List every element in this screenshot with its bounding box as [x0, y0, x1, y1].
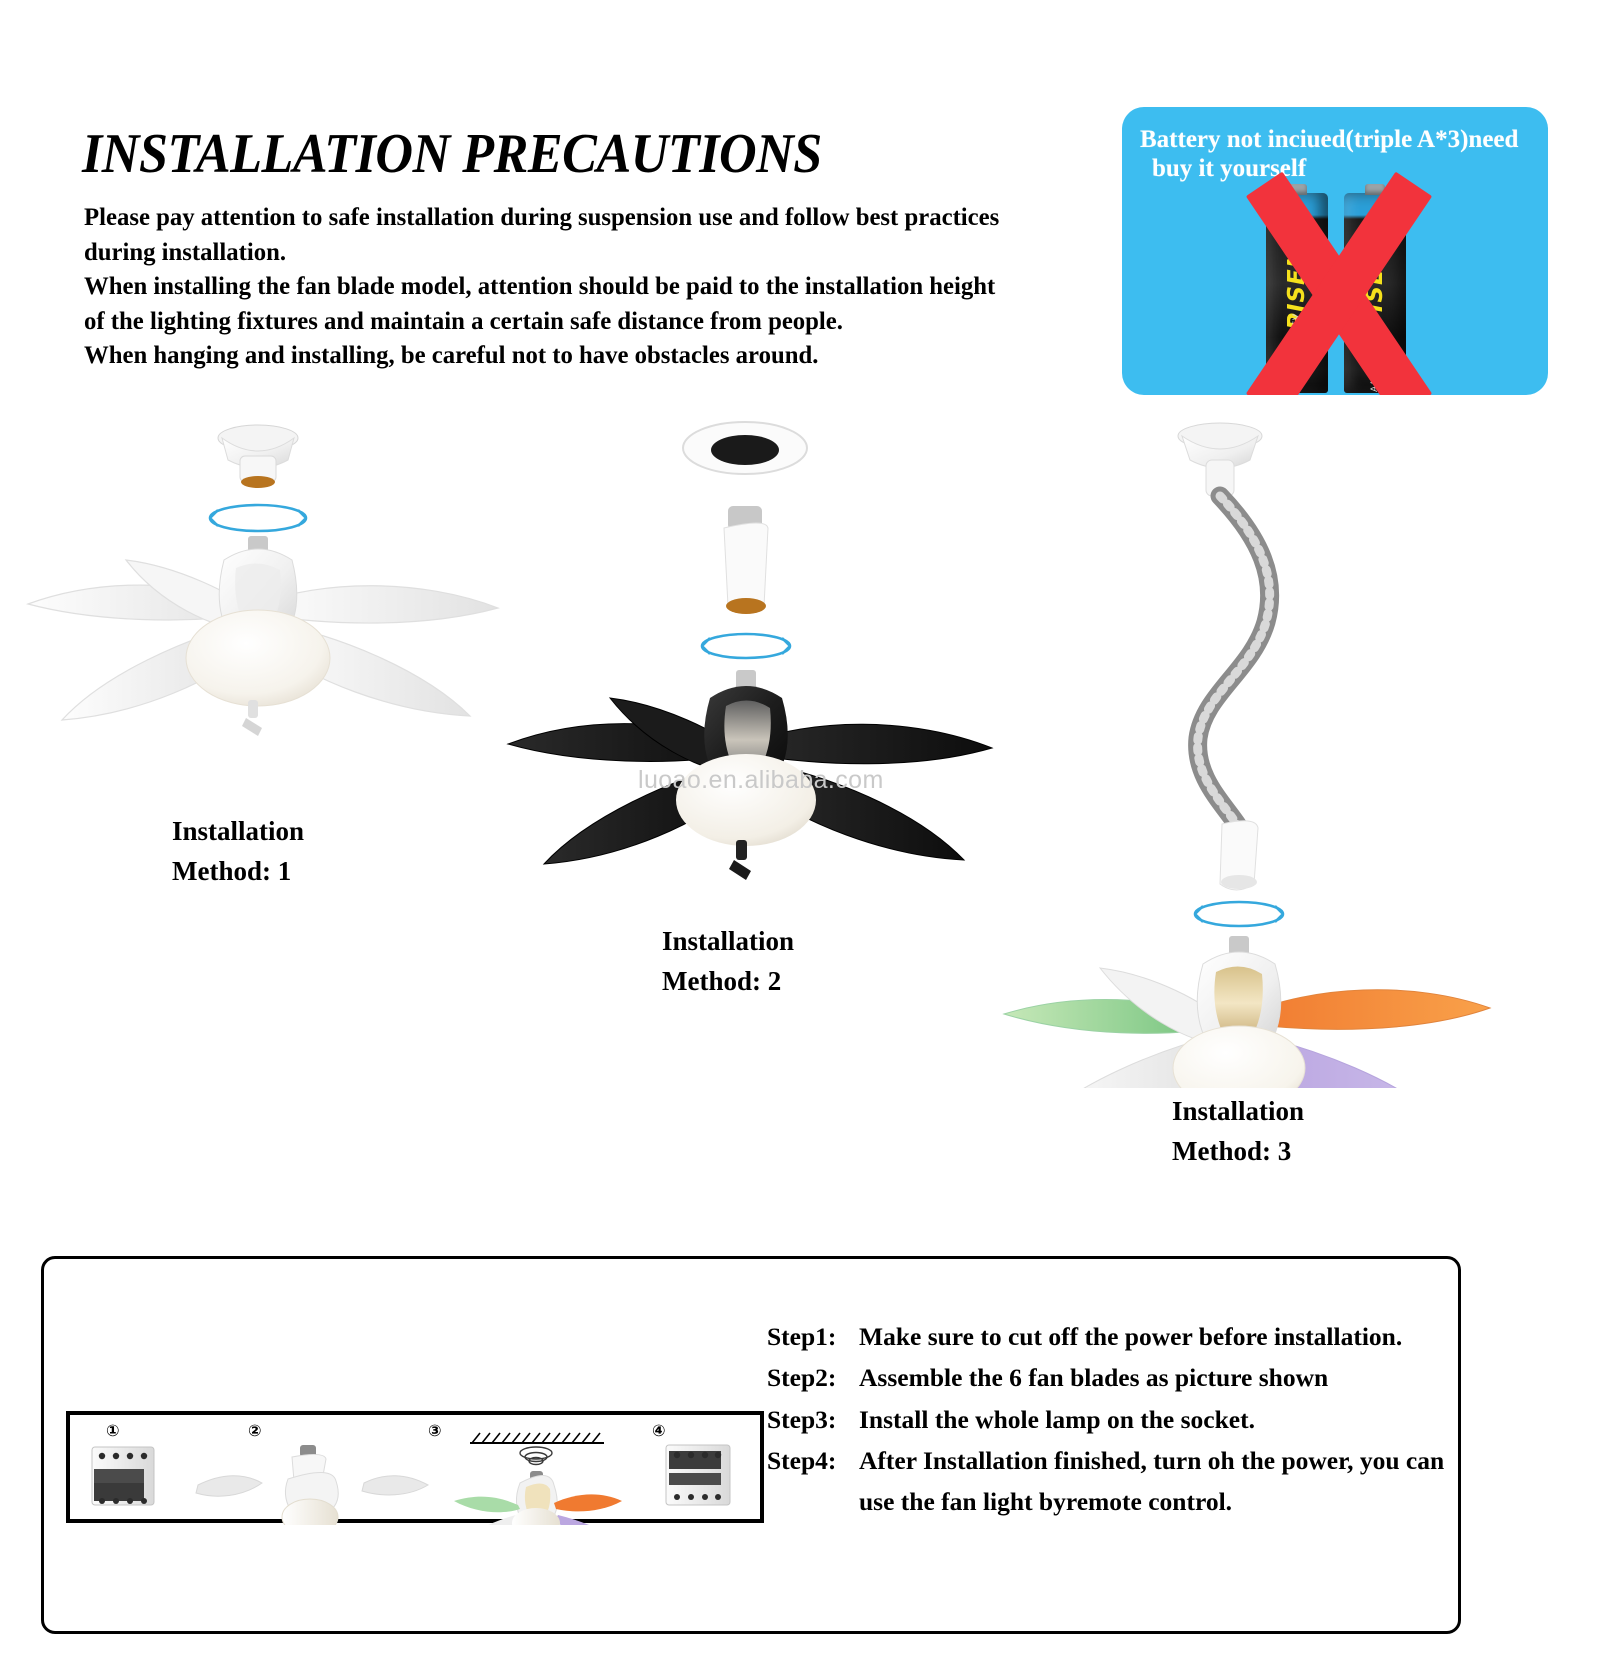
- infographic-page: INSTALLATION PRECAUTIONS Please pay atte…: [0, 0, 1600, 1677]
- step-row: Step1: Make sure to cut off the power be…: [767, 1316, 1447, 1357]
- step-2-key: Step2:: [767, 1357, 859, 1398]
- step-4-value-continued: use the fan light byremote control.: [859, 1481, 1447, 1522]
- step-1-value: Make sure to cut off the power before in…: [859, 1316, 1402, 1357]
- intro-paragraphs: Please pay attention to safe installatio…: [84, 200, 1006, 373]
- method-2-line-2: Method: 2: [662, 962, 794, 1002]
- intro-line-3: When hanging and installing, be careful …: [84, 338, 1006, 373]
- method-1-line-1: Installation: [172, 812, 304, 852]
- method-3-line-2: Method: 3: [1172, 1132, 1304, 1172]
- installation-method-2-illustration: [480, 408, 1040, 918]
- installation-method-1-illustration: [0, 408, 540, 808]
- step-4-value: After Installation finished, turn oh the…: [859, 1440, 1444, 1481]
- steps-panel: ① ② ③ ④: [41, 1256, 1461, 1634]
- battery-notice-line-1: Battery not inciued(triple A*3)need: [1140, 126, 1518, 153]
- step-4-key: Step4:: [767, 1440, 859, 1481]
- method-1-line-2: Method: 1: [172, 852, 304, 892]
- step-1-key: Step1:: [767, 1316, 859, 1357]
- battery-notice-box: Battery not inciued(triple A*3)need buy …: [1122, 107, 1548, 395]
- installation-method-3-illustration: [960, 408, 1540, 1088]
- step-3-value: Install the whole lamp on the socket.: [859, 1399, 1255, 1440]
- installation-method-1-label: Installation Method: 1: [172, 812, 304, 892]
- intro-line-2: When installing the fan blade model, att…: [84, 269, 1006, 338]
- step-3-key: Step3:: [767, 1399, 859, 1440]
- method-3-line-1: Installation: [1172, 1092, 1304, 1132]
- step-row: Step2: Assemble the 6 fan blades as pict…: [767, 1357, 1447, 1398]
- step-row: Step4: After Installation finished, turn…: [767, 1440, 1447, 1481]
- step-row: Step3: Install the whole lamp on the soc…: [767, 1399, 1447, 1440]
- intro-line-1: Please pay attention to safe installatio…: [84, 200, 1006, 269]
- page-title: INSTALLATION PRECAUTIONS: [82, 122, 822, 186]
- steps-text-list: Step1: Make sure to cut off the power be…: [767, 1316, 1447, 1522]
- steps-thumbnail-strip: ① ② ③ ④: [66, 1411, 764, 1523]
- installation-method-3-label: Installation Method: 3: [1172, 1092, 1304, 1172]
- step-2-value: Assemble the 6 fan blades as picture sho…: [859, 1357, 1328, 1398]
- method-2-line-1: Installation: [662, 922, 794, 962]
- watermark: luoao.en.alibaba.com: [638, 766, 884, 795]
- installation-method-2-label: Installation Method: 2: [662, 922, 794, 1002]
- cross-out-icon: [1214, 175, 1464, 395]
